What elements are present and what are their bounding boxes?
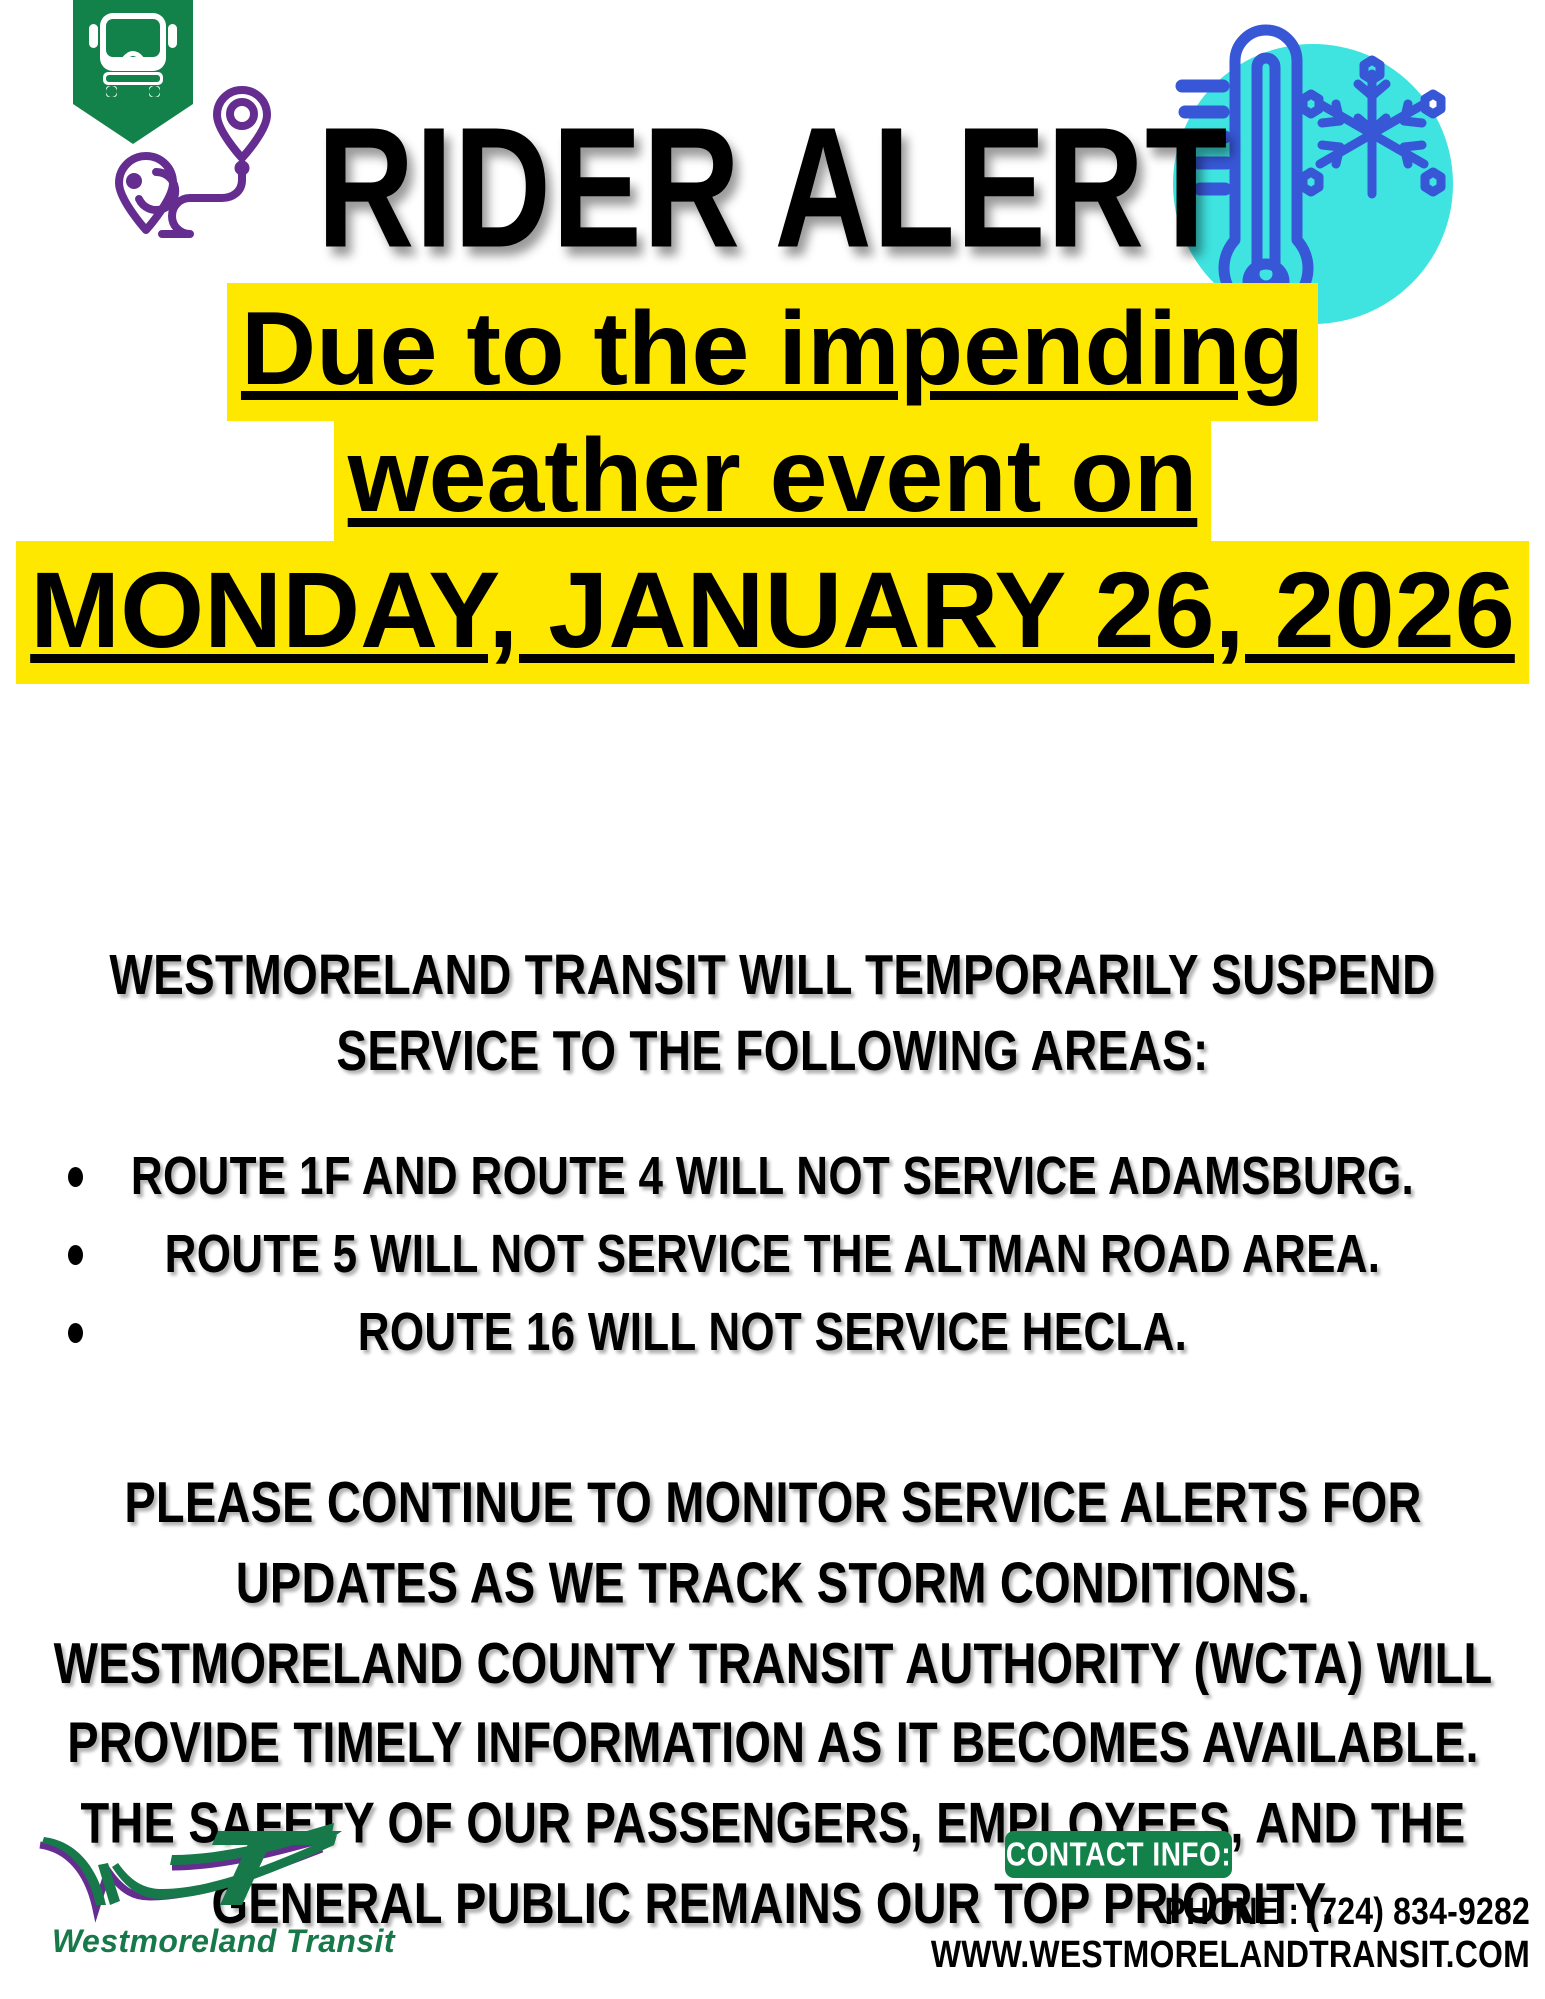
- list-item: ROUTE 5 WILL NOT SERVICE THE ALTMAN ROAD…: [0, 1233, 1545, 1277]
- list-item-label: ROUTE 1F AND ROUTE 4 WILL NOT SERVICE AD…: [131, 1150, 1414, 1204]
- highlight-line-3-date: MONDAY, JANUARY 26, 2026: [0, 544, 1545, 676]
- lead-paragraph: WESTMORELAND TRANSIT WILL TEMPORARILY SU…: [40, 938, 1505, 1088]
- contact-info-label: CONTACT INFO:: [1006, 1836, 1231, 1874]
- list-item-label: ROUTE 16 WILL NOT SERVICE HECLA.: [358, 1306, 1187, 1360]
- highlight-line-2: weather event on: [0, 413, 1545, 540]
- bullet-dot-icon: [68, 1323, 83, 1343]
- highlight-line-1-text: Due to the impending: [227, 283, 1318, 421]
- logo-wordmark: Westmoreland Transit: [52, 1923, 395, 1960]
- rider-alert-poster: RIDER ALERT Due to the impending weather…: [0, 0, 1545, 1999]
- list-item-label: ROUTE 5 WILL NOT SERVICE THE ALTMAN ROAD…: [165, 1228, 1381, 1282]
- bullet-dot-icon: [68, 1245, 83, 1265]
- contact-details: PHONE : (724) 834-9282 WWW.WESTMORELANDT…: [700, 1890, 1530, 1976]
- page-title-text: RIDER ALERT: [317, 102, 1228, 274]
- highlight-block: Due to the impending weather event on MO…: [0, 286, 1545, 676]
- route-map-pins-icon: [104, 84, 274, 259]
- list-item: ROUTE 16 WILL NOT SERVICE HECLA.: [0, 1311, 1545, 1355]
- highlight-line-3-text: MONDAY, JANUARY 26, 2026: [16, 541, 1529, 684]
- contact-info-badge: CONTACT INFO:: [1005, 1831, 1232, 1878]
- bullet-dot-icon: [68, 1167, 83, 1187]
- suspended-areas-list: ROUTE 1F AND ROUTE 4 WILL NOT SERVICE AD…: [0, 1155, 1545, 1389]
- list-item: ROUTE 1F AND ROUTE 4 WILL NOT SERVICE AD…: [0, 1155, 1545, 1199]
- wt-logo-icon: Westmoreland Transit: [22, 1805, 352, 1980]
- highlight-line-1: Due to the impending: [0, 286, 1545, 413]
- highlight-line-2-text: weather event on: [334, 410, 1212, 548]
- contact-website[interactable]: WWW.WESTMORELANDTRANSIT.COM: [700, 1929, 1530, 1980]
